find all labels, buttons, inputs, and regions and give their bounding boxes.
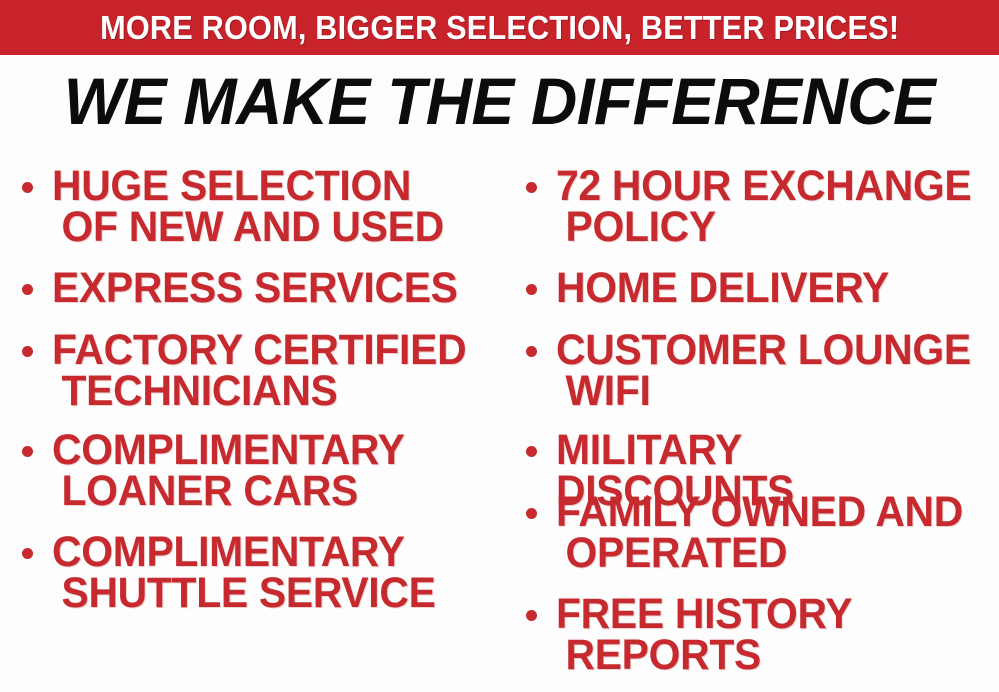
- benefit-list-item: HUGE SELECTIONOF NEW AND USED: [14, 166, 464, 248]
- benefit-label: HOME DELIVERY: [556, 268, 889, 309]
- benefit-list-item: CUSTOMER LOUNGEWIFI: [518, 330, 993, 412]
- benefit-list-item: COMPLIMENTARYLOANER CARS: [14, 430, 423, 512]
- benefit-label: CUSTOMER LOUNGEWIFI: [556, 330, 971, 412]
- page-title: WE MAKE THE DIFFERENCE: [15, 68, 984, 134]
- benefit-list-item: FREE HISTORYREPORTS: [518, 594, 868, 676]
- benefit-label-line2: OF NEW AND USED: [52, 207, 444, 248]
- benefit-list-item: HOME DELIVERY: [518, 268, 907, 309]
- bullet-dot-icon: [22, 548, 33, 559]
- promo-banner-text: MORE ROOM, BIGGER SELECTION, BETTER PRIC…: [100, 11, 899, 44]
- bullet-dot-icon: [526, 610, 537, 621]
- benefit-list-item: COMPLIMENTARYSHUTTLE SERVICE: [14, 532, 456, 614]
- promo-banner: MORE ROOM, BIGGER SELECTION, BETTER PRIC…: [0, 0, 999, 55]
- benefit-label-line2: REPORTS: [556, 635, 852, 676]
- bullet-dot-icon: [526, 346, 537, 357]
- bullet-dot-icon: [526, 284, 537, 295]
- bullet-dot-icon: [22, 446, 33, 457]
- benefit-label-line2: WIFI: [556, 371, 971, 412]
- benefit-label-line2: TECHNICIANS: [52, 371, 466, 412]
- benefit-label: HUGE SELECTIONOF NEW AND USED: [52, 166, 444, 248]
- benefit-list-item: 72 HOUR EXCHANGEPOLICY: [518, 166, 993, 248]
- benefit-label: COMPLIMENTARYLOANER CARS: [52, 430, 405, 512]
- benefit-label: FACTORY CERTIFIEDTECHNICIANS: [52, 330, 466, 412]
- bullet-dot-icon: [526, 446, 537, 457]
- benefit-list-item: FACTORY CERTIFIEDTECHNICIANS: [14, 330, 488, 412]
- bullet-dot-icon: [22, 284, 33, 295]
- bullet-dot-icon: [526, 182, 537, 193]
- benefit-label: COMPLIMENTARYSHUTTLE SERVICE: [52, 532, 436, 614]
- benefit-label-line2: SHUTTLE SERVICE: [52, 573, 436, 614]
- bullet-dot-icon: [22, 182, 33, 193]
- benefit-label-line2: OPERATED: [556, 533, 963, 574]
- benefit-label: FREE HISTORYREPORTS: [556, 594, 852, 676]
- benefit-list-item: EXPRESS SERVICES: [14, 268, 479, 309]
- benefit-label: FAMILY OWNED ANDOPERATED: [556, 492, 963, 574]
- benefit-label: 72 HOUR EXCHANGEPOLICY: [556, 166, 971, 248]
- benefit-label-line1: EXPRESS SERVICES: [52, 264, 458, 312]
- benefit-label-line2: LOANER CARS: [52, 471, 405, 512]
- bullet-dot-icon: [526, 508, 537, 519]
- benefit-list-item: FAMILY OWNED ANDOPERATED: [518, 492, 984, 574]
- benefit-label: EXPRESS SERVICES: [52, 268, 458, 309]
- benefit-label-line1: HOME DELIVERY: [556, 264, 889, 312]
- benefit-label-line2: POLICY: [556, 207, 971, 248]
- bullet-dot-icon: [22, 346, 33, 357]
